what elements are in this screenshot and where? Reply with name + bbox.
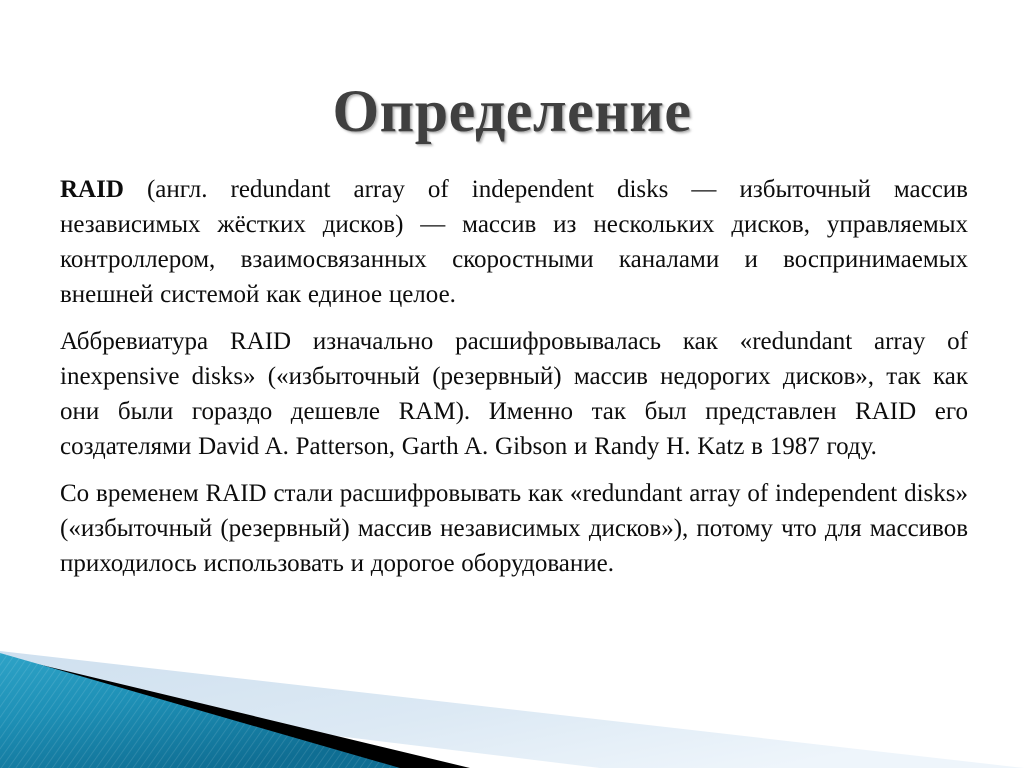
black-stripe [0, 655, 470, 768]
paragraph-1-text: (англ. redundant array of independent di… [60, 176, 968, 308]
paragraph-2: Аббревиатура RAID изначально расшифровыв… [60, 324, 968, 464]
paragraph-3-text: Со временем RAID стали расшифровывать ка… [60, 480, 968, 577]
teal-wedge-texture [0, 653, 400, 768]
slide-body: RAID (англ. redundant array of independe… [60, 172, 968, 581]
pale-blue-band [0, 651, 1024, 768]
paragraph-2-text: Аббревиатура RAID изначально расшифровыв… [60, 328, 968, 460]
footer-diagonal-banner [0, 633, 1024, 768]
teal-wedge [0, 653, 400, 768]
page-title: Определение [0, 78, 1024, 145]
paragraph-1: RAID (англ. redundant array of independe… [60, 172, 968, 312]
paragraph-3: Со временем RAID стали расшифровывать ка… [60, 476, 968, 581]
slide-canvas: Определение RAID (англ. redundant array … [0, 0, 1024, 768]
paragraph-1-lead-bold: RAID [60, 176, 124, 203]
